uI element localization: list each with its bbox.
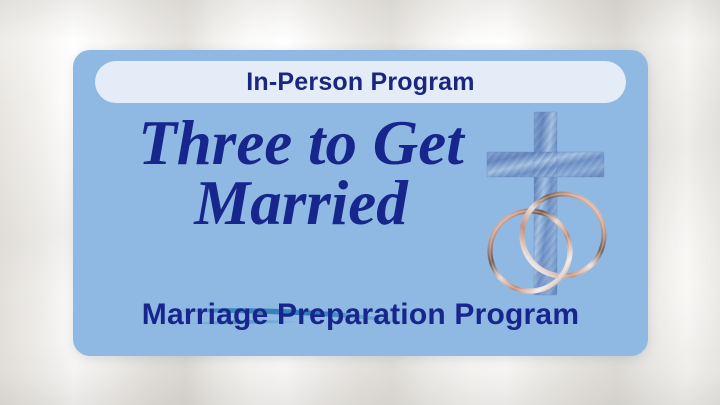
title-line-1: Three to Get: [101, 113, 501, 175]
cross-and-rings-emblem: [483, 105, 633, 305]
poster-canvas: In-Person Program Three to Get Married: [0, 0, 720, 405]
in-person-program-banner: In-Person Program: [95, 61, 626, 103]
program-title: Three to Get Married: [101, 113, 501, 234]
banner-label: In-Person Program: [246, 70, 474, 95]
title-line-2: Married: [101, 173, 501, 235]
program-card: In-Person Program Three to Get Married: [73, 50, 648, 356]
